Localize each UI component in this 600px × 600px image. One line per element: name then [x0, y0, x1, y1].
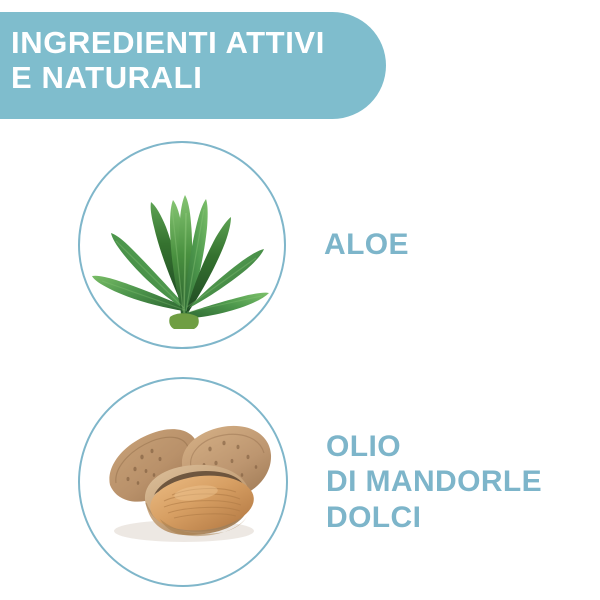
aloe-plant-icon [80, 143, 284, 347]
almonds-icon [80, 379, 286, 585]
ingredient-label-almond-oil: OLIO DI MANDORLE DOLCI [326, 429, 542, 534]
ingredient-item-almond-oil: OLIO DI MANDORLE DOLCI [78, 377, 542, 587]
ingredient-item-aloe: ALOE [78, 141, 409, 349]
page-title: INGREDIENTI ATTIVI E NATURALI [11, 26, 386, 95]
header-banner: INGREDIENTI ATTIVI E NATURALI [0, 12, 386, 119]
aloe-image-frame [78, 141, 286, 349]
almond-image-frame [78, 377, 288, 587]
ingredient-label-aloe: ALOE [324, 227, 409, 262]
